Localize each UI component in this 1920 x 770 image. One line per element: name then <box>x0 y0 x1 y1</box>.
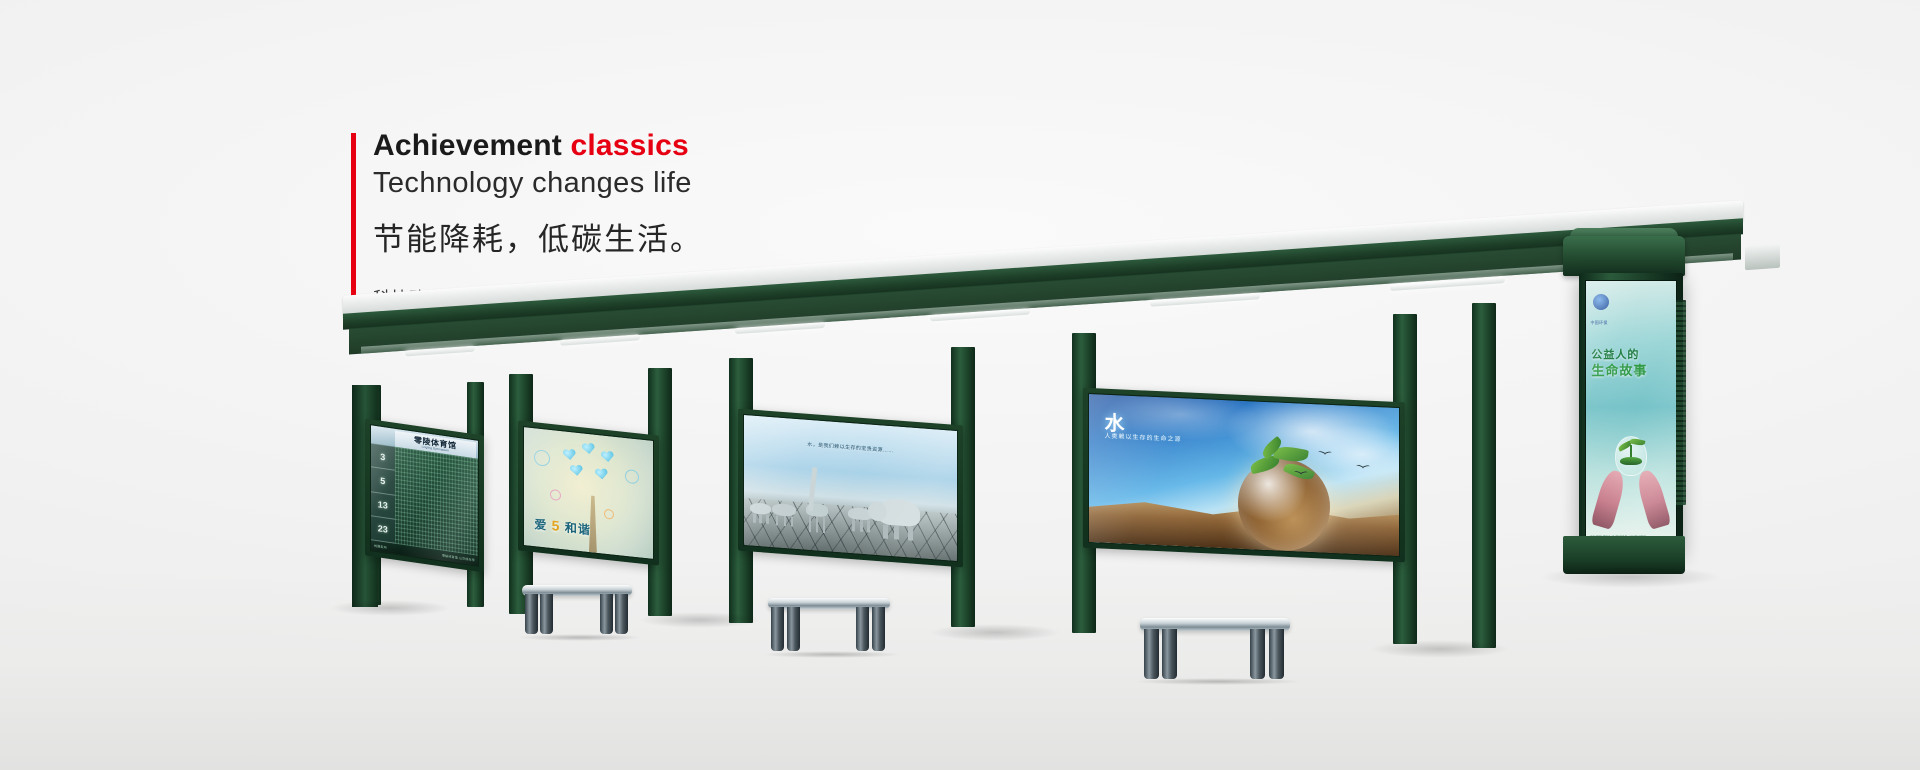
bench <box>768 598 890 654</box>
ad-screen: 爱 5 和谐 <box>523 426 654 560</box>
lightbox-title: 公益人的 生命故事 <box>1591 349 1672 380</box>
route-number: 13 <box>371 492 395 520</box>
bubble-decoration <box>625 469 639 484</box>
heart-leaf <box>601 451 615 462</box>
poster-heart-tree: 爱 5 和谐 <box>524 427 653 559</box>
poster-number: 5 <box>552 517 561 534</box>
product-render-canvas: Achievement classics Technology changes … <box>0 0 1920 770</box>
bubble-decoration <box>604 509 614 520</box>
sprout-graphic <box>1250 440 1320 489</box>
bench <box>522 585 632 637</box>
poster-subtitle: 和谐 <box>565 520 591 537</box>
poster-wildlife: 水，是我们赖以生存的宝贵资源…… <box>744 415 957 561</box>
heart-leaf <box>562 448 576 459</box>
bird-icon <box>1318 452 1332 459</box>
ad-screen: 水 人类赖以生存的生命之源 <box>1088 393 1400 557</box>
timetable-body: 3 5 13 23 <box>371 443 478 555</box>
poster-water-earth: 水 人类赖以生存的生命之源 <box>1089 394 1399 556</box>
bird-icon <box>1294 471 1308 478</box>
poster-heart-tree-text: 爱 5 和谐 <box>534 515 591 538</box>
route-stops-grid <box>395 447 478 556</box>
environment-logo-icon <box>1593 294 1609 310</box>
ground-shadow <box>1540 566 1720 588</box>
poster-title: 爱 <box>534 517 547 532</box>
lightbox-vent-grille <box>1676 300 1686 505</box>
ad-panel-wildlife[interactable]: 水，是我们赖以生存的宝贵资源…… <box>738 409 963 568</box>
ad-panel-water-earth[interactable]: 水 人类赖以生存的生命之源 <box>1083 388 1405 563</box>
hands-graphic <box>1597 418 1665 528</box>
route-number: 23 <box>371 516 395 544</box>
route-number: 3 <box>371 443 395 471</box>
timetable-footer-left: 线路走向 <box>374 544 387 550</box>
timetable-footer-right: 零陵体育馆 公交候车亭 <box>442 554 475 563</box>
heart-leaf <box>581 443 595 454</box>
bus-shelter: 零陵体育馆 Lingling Gymnasium 3 5 13 23 线路 <box>0 0 1920 770</box>
shelter-post <box>1472 303 1496 648</box>
bubble-decoration <box>534 449 550 467</box>
ad-screen: 水，是我们赖以生存的宝贵资源…… <box>743 414 958 562</box>
lightbox-title-line2: 生命故事 <box>1591 363 1647 378</box>
heart-leaf <box>570 464 584 475</box>
lightbox-title-line1: 公益人的 <box>1591 349 1639 361</box>
ground-shadow <box>930 624 1060 641</box>
lightbox-cap <box>1563 236 1685 276</box>
roof-front-fascia <box>343 218 1743 329</box>
bubble-decoration <box>550 489 561 501</box>
poster-caption: 水，是我们赖以生存的宝贵资源…… <box>807 441 893 454</box>
heart-leaf <box>594 468 608 479</box>
logo-label: 中国环保 <box>1591 320 1608 326</box>
ground-shadow <box>330 600 450 616</box>
ground-shadow <box>1370 640 1510 658</box>
hand-left <box>1591 468 1628 530</box>
lightbox-screen: 中国环保 公益人的 生命故事 绿色家园 低碳生活 节能环保 共建美好明天 <box>1585 280 1677 545</box>
route-number-column: 3 5 13 23 <box>371 443 395 543</box>
vertical-lightbox-panel[interactable]: 中国环保 公益人的 生命故事 绿色家园 低碳生活 节能环保 共建美好明天 <box>1579 273 1683 552</box>
bench <box>1140 618 1290 682</box>
route-number: 5 <box>371 468 395 496</box>
ground-shadow <box>640 612 760 628</box>
ad-panel-heart-tree[interactable]: 爱 5 和谐 <box>518 420 659 565</box>
route-timetable-panel[interactable]: 零陵体育馆 Lingling Gymnasium 3 5 13 23 线路 <box>365 418 484 572</box>
timetable-board: 零陵体育馆 Lingling Gymnasium 3 5 13 23 线路 <box>371 425 478 565</box>
bird-icon <box>1356 465 1370 472</box>
hand-right <box>1634 468 1671 530</box>
roof-end-cap <box>1745 244 1780 270</box>
timetable-screen: 零陵体育馆 Lingling Gymnasium 3 5 13 23 线路 <box>370 424 479 567</box>
shelter-roof <box>343 248 1773 388</box>
